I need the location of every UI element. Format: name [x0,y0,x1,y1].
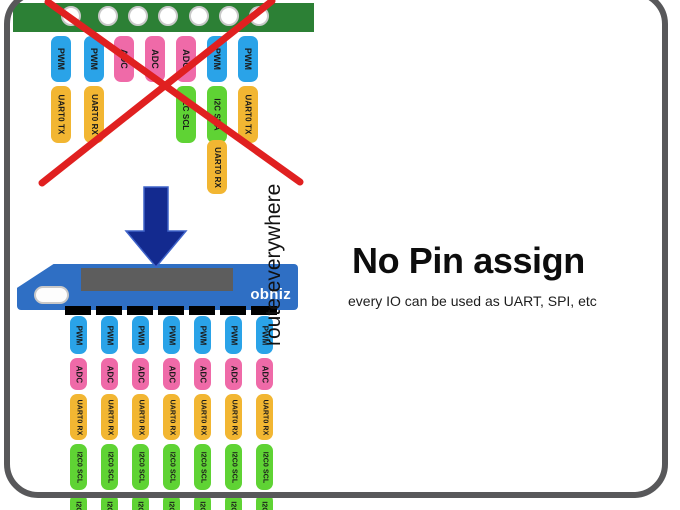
obniz-pin-label: ADC [194,358,211,390]
obniz-pin-label: UART0 RX [101,394,118,440]
obniz-pin-label: I2C0 SDA [101,494,118,510]
slide-canvas: PWM PWM ADC ADC ADC PWM PWM UART0 TX UAR… [0,0,680,510]
obniz-connector [220,306,246,315]
obniz-pin-label: UART0 RX [256,394,273,440]
obniz-switch[interactable] [34,286,69,304]
obniz-pin-label: I2C0 SCL [101,444,118,490]
obniz-connector [158,306,184,315]
obniz-pin-label: ADC [256,358,273,390]
obniz-board: obniz [17,264,298,310]
obniz-pin-label: PWM [101,316,118,354]
obniz-connector [127,306,153,315]
obniz-pin-label: I2C0 SDA [70,494,87,510]
obniz-pin-label: UART0 RX [194,394,211,440]
obniz-pin-label: PWM [70,316,87,354]
obniz-pin-label: PWM [163,316,180,354]
obniz-pin-label: UART0 RX [132,394,149,440]
page-title: No Pin assign [352,240,585,282]
obniz-pin-label: I2C0 SCL [256,444,273,490]
obniz-connector [189,306,215,315]
obniz-connector [96,306,122,315]
page-subtitle: every IO can be used as UART, SPI, etc [348,293,597,309]
obniz-pin-label: UART0 RX [163,394,180,440]
obniz-pin-label: I2C0 SCL [225,444,242,490]
cross-out-mark [0,0,340,200]
route-everywhere-caption: route everywhere [262,156,286,346]
obniz-pin-label: I2C0 SCL [163,444,180,490]
obniz-pin-label: ADC [163,358,180,390]
obniz-pin-label: UART0 RX [225,394,242,440]
obniz-pin-label: I2C0 SDA [256,494,273,510]
obniz-pin-label: ADC [101,358,118,390]
obniz-pin-label: PWM [194,316,211,354]
obniz-pin-label: I2C0 SCL [132,444,149,490]
obniz-connector [65,306,91,315]
obniz-pin-label: ADC [70,358,87,390]
obniz-pin-label: I2C0 SDA [194,494,211,510]
obniz-pin-label: PWM [225,316,242,354]
obniz-pin-label: UART0 RX [70,394,87,440]
obniz-pin-label: PWM [132,316,149,354]
obniz-pin-label: I2C0 SDA [225,494,242,510]
obniz-pin-label: ADC [132,358,149,390]
obniz-display [81,268,233,291]
obniz-pin-label: I2C0 SDA [132,494,149,510]
obniz-pin-label: I2C0 SDA [163,494,180,510]
obniz-pin-label: I2C0 SCL [70,444,87,490]
obniz-pin-label: I2C0 SCL [194,444,211,490]
obniz-pin-label: ADC [225,358,242,390]
